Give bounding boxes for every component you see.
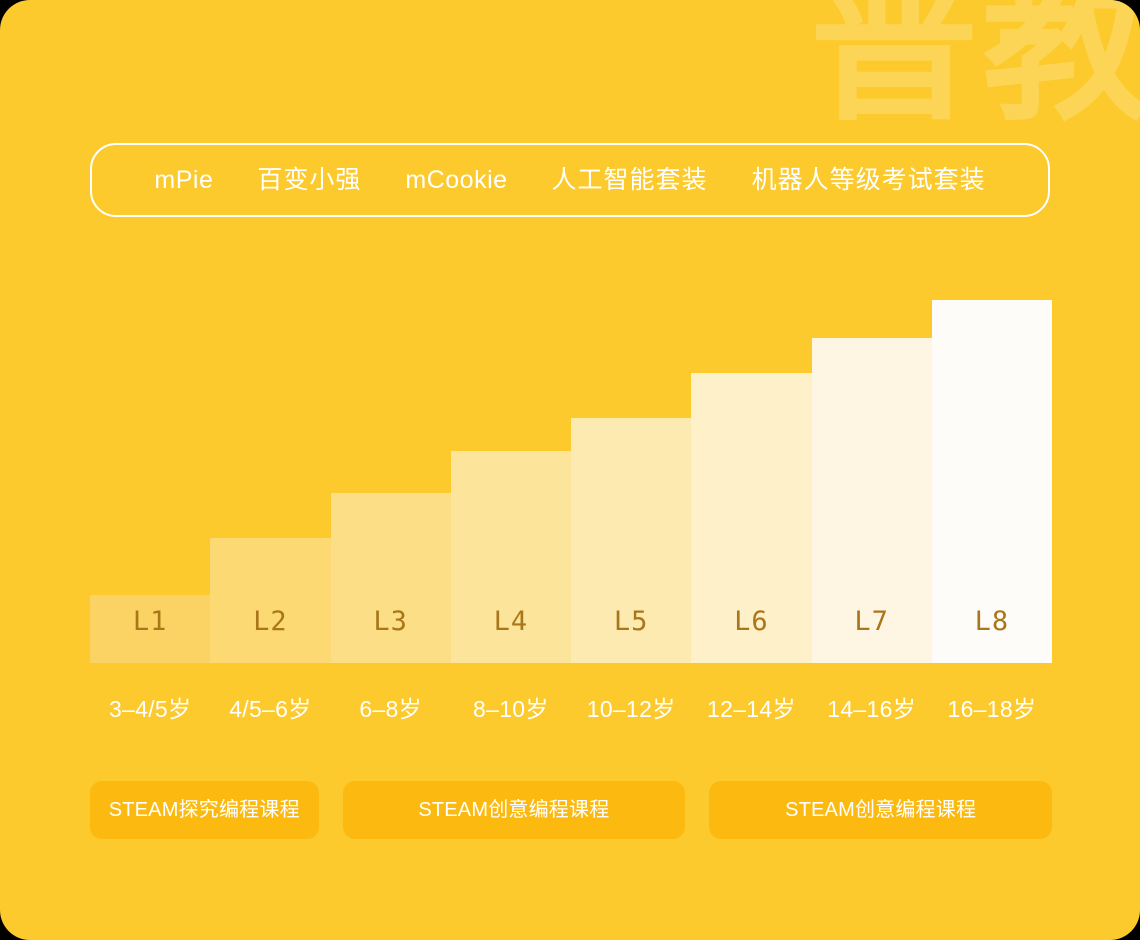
course-button-1[interactable]: STEAM探究编程课程 <box>90 781 319 839</box>
product-pill-item-2[interactable]: 百变小强 <box>235 168 383 193</box>
age-range-label-l4: 8–10岁 <box>451 698 571 721</box>
level-bar-chart: L1L2L3L4L5L6L7L8 <box>90 298 1052 663</box>
product-pill-item-5[interactable]: 机器人等级考试套装 <box>730 168 1008 193</box>
age-range-label-l8: 16–18岁 <box>932 698 1052 721</box>
course-button-2[interactable]: STEAM创意编程课程 <box>343 781 686 839</box>
bar-level-label-l2: L2 <box>253 608 288 663</box>
bar-column-l2[interactable]: L2 <box>210 298 330 663</box>
bar-level-label-l8: L8 <box>975 608 1010 663</box>
bar-level-label-l3: L3 <box>373 608 408 663</box>
bar-l8: L8 <box>932 300 1052 663</box>
age-range-label-l7: 14–16岁 <box>812 698 932 721</box>
bar-column-l6[interactable]: L6 <box>691 298 811 663</box>
bar-column-l1[interactable]: L1 <box>90 298 210 663</box>
age-range-label-l6: 12–14岁 <box>691 698 811 721</box>
bar-column-l5[interactable]: L5 <box>571 298 691 663</box>
course-button-3[interactable]: STEAM创意编程课程 <box>709 781 1052 839</box>
course-ladder-card: 普教 mPie百变小强mCookie人工智能套装机器人等级考试套装 L1L2L3… <box>0 0 1140 940</box>
bar-level-label-l5: L5 <box>614 608 649 663</box>
bar-level-label-l6: L6 <box>734 608 769 663</box>
product-pill-item-3[interactable]: mCookie <box>383 168 529 193</box>
age-range-label-l2: 4/5–6岁 <box>210 698 330 721</box>
age-range-label-l1: 3–4/5岁 <box>90 698 210 721</box>
bar-level-label-l1: L1 <box>133 608 168 663</box>
product-series-pill: mPie百变小强mCookie人工智能套装机器人等级考试套装 <box>90 143 1050 217</box>
bar-l3: L3 <box>331 493 451 663</box>
product-pill-item-4[interactable]: 人工智能套装 <box>530 168 730 193</box>
bar-l7: L7 <box>812 338 932 663</box>
bar-l4: L4 <box>451 451 571 663</box>
bar-l2: L2 <box>210 538 330 663</box>
product-pill-item-1[interactable]: mPie <box>132 168 235 193</box>
bar-column-l8[interactable]: L8 <box>932 298 1052 663</box>
watermark-text: 普教 <box>810 0 1140 130</box>
age-range-axis: 3–4/5岁4/5–6岁6–8岁8–10岁10–12岁12–14岁14–16岁1… <box>90 698 1052 721</box>
bar-l1: L1 <box>90 595 210 663</box>
course-button-row: STEAM探究编程课程STEAM创意编程课程STEAM创意编程课程 <box>90 781 1052 839</box>
bar-l6: L6 <box>691 373 811 663</box>
bar-level-label-l4: L4 <box>494 608 529 663</box>
bar-column-l7[interactable]: L7 <box>812 298 932 663</box>
age-range-label-l3: 6–8岁 <box>331 698 451 721</box>
bar-column-l3[interactable]: L3 <box>331 298 451 663</box>
age-range-label-l5: 10–12岁 <box>571 698 691 721</box>
bar-column-l4[interactable]: L4 <box>451 298 571 663</box>
bar-l5: L5 <box>571 418 691 663</box>
bar-level-label-l7: L7 <box>854 608 889 663</box>
